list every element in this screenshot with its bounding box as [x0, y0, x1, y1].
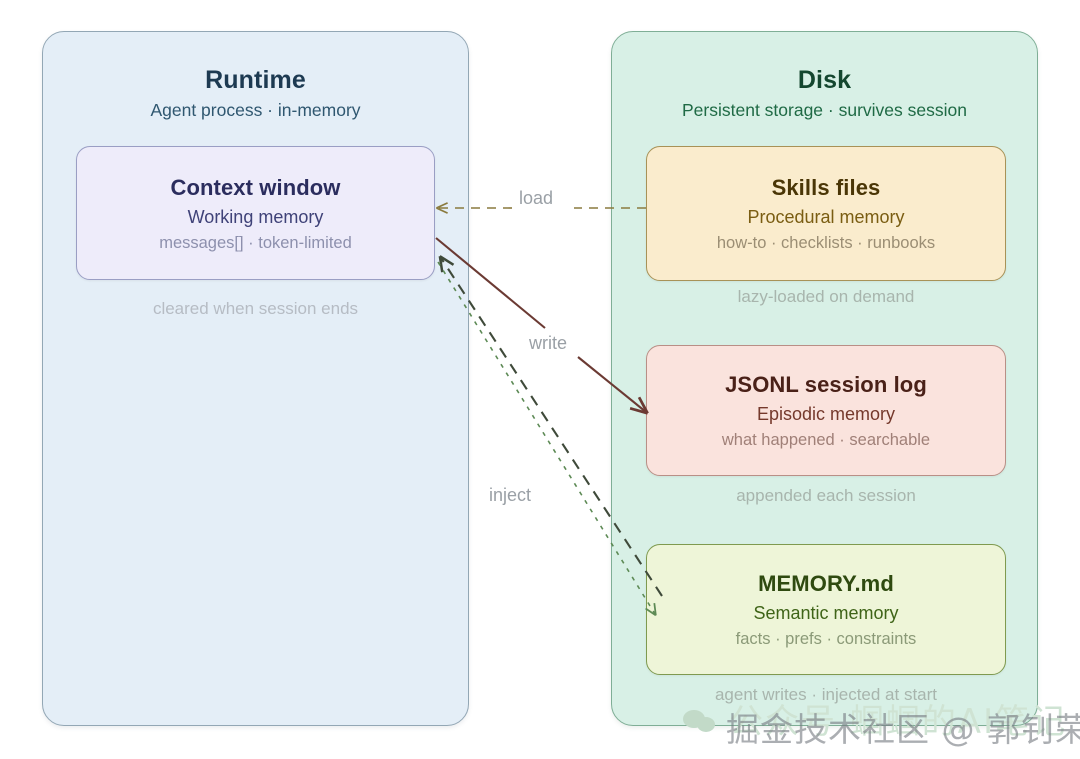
card-context-window[interactable]: Context window Working memory messages[]… [76, 146, 435, 280]
edge-label-inject: inject [489, 485, 531, 506]
card-jsonl-session-log-detail: what happened · searchable [647, 431, 1005, 450]
caption-runtime: cleared when session ends [76, 299, 435, 319]
panel-runtime: Runtime Agent process · in-memory [42, 31, 469, 726]
wechat-logo-icon [683, 710, 725, 736]
watermark-author: 掘金技术社区 @ 郭钊荣 [726, 703, 1080, 751]
card-skills-files[interactable]: Skills files Procedural memory how-to · … [646, 146, 1006, 281]
caption-skills-files: lazy-loaded on demand [646, 287, 1006, 307]
card-memory-md[interactable]: MEMORY.md Semantic memory facts · prefs … [646, 544, 1006, 675]
panel-runtime-subtitle: Agent process · in-memory [43, 100, 468, 121]
diagram-canvas: Runtime Agent process · in-memory Contex… [0, 0, 1080, 759]
panel-disk-subtitle: Persistent storage · survives session [612, 100, 1037, 121]
card-memory-md-detail: facts · prefs · constraints [647, 630, 1005, 649]
card-skills-files-subtitle: Procedural memory [647, 207, 1005, 228]
card-skills-files-title: Skills files [647, 175, 1005, 201]
card-context-window-subtitle: Working memory [77, 207, 434, 228]
panel-disk-title: Disk [612, 66, 1037, 95]
card-context-window-detail: messages[] · token-limited [77, 234, 434, 253]
card-skills-files-detail: how-to · checklists · runbooks [647, 234, 1005, 253]
card-context-window-title: Context window [77, 175, 434, 201]
card-jsonl-session-log[interactable]: JSONL session log Episodic memory what h… [646, 345, 1006, 476]
card-memory-md-title: MEMORY.md [647, 571, 1005, 597]
edge-label-load: load [519, 188, 553, 209]
edge-label-write: write [529, 333, 567, 354]
caption-jsonl-session-log: appended each session [646, 486, 1006, 506]
panel-runtime-title: Runtime [43, 66, 468, 95]
card-jsonl-session-log-subtitle: Episodic memory [647, 404, 1005, 425]
card-jsonl-session-log-title: JSONL session log [647, 372, 1005, 398]
card-memory-md-subtitle: Semantic memory [647, 603, 1005, 624]
